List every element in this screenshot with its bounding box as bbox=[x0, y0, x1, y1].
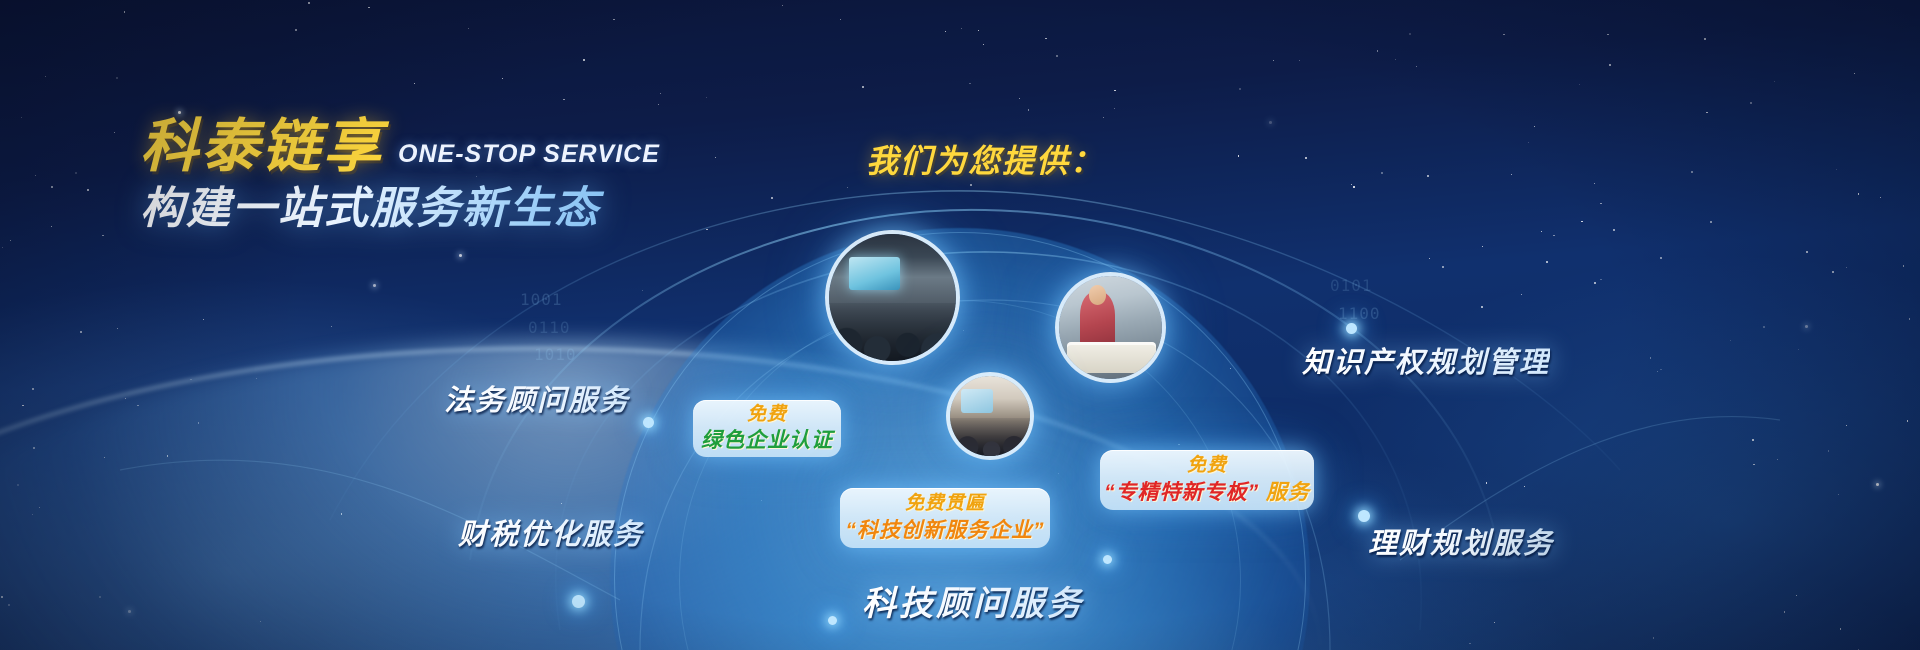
badge-main-label-yellow: 服务 bbox=[1259, 481, 1310, 504]
headline-subtitle: 构建一站式服务新生态 bbox=[140, 184, 760, 235]
badge-main-label: “科技创新服务企业” bbox=[846, 518, 1045, 543]
headline-block: 科泰链享 ONE-STOP SERVICE 构建一站式服务新生态 bbox=[140, 118, 760, 235]
photo-meeting-room-image bbox=[950, 376, 1030, 456]
orbit-lines-decoration bbox=[0, 0, 1920, 650]
green-enterprise-badge[interactable]: 免费 绿色企业认证 bbox=[693, 400, 841, 457]
orbit-node bbox=[1346, 323, 1357, 334]
specialized-board-badge[interactable]: 免费 “专精特新专板” 服务 bbox=[1100, 450, 1314, 510]
section-heading: 我们为您提供： bbox=[866, 136, 1104, 182]
binary-decoration: 1010 bbox=[534, 345, 577, 365]
wealth-planning-service[interactable]: 理财规划服务 bbox=[1368, 520, 1554, 562]
binary-decoration: 1100 bbox=[1338, 304, 1381, 324]
orbit-node bbox=[643, 417, 654, 428]
photo-meeting-room bbox=[946, 372, 1034, 460]
badge-main-label: 绿色企业认证 bbox=[701, 428, 833, 453]
orbit-node bbox=[828, 616, 837, 625]
finance-tax-service[interactable]: 财税优化服务 bbox=[458, 511, 644, 553]
binary-decoration: 1001 bbox=[520, 290, 563, 310]
badge-free-label: 免费 bbox=[1187, 455, 1227, 478]
photo-seminar-room-image bbox=[829, 234, 956, 361]
binary-decoration: 0110 bbox=[528, 318, 571, 338]
binary-decoration: 0101 bbox=[1330, 276, 1373, 296]
legal-advisory-service[interactable]: 法务顾问服务 bbox=[444, 377, 630, 419]
brand-title: 科泰链享 bbox=[140, 118, 384, 176]
ip-planning-management[interactable]: 知识产权规划管理 bbox=[1302, 339, 1550, 381]
orbit-node bbox=[572, 595, 585, 608]
tech-advisory-service[interactable]: 科技顾问服务 bbox=[862, 576, 1084, 625]
badge-main-label: “专精特新专板” 服务 bbox=[1104, 480, 1310, 505]
badge-free-label: 免费 bbox=[747, 404, 787, 427]
photo-office-consultant bbox=[1055, 272, 1166, 383]
english-tagline: ONE-STOP SERVICE bbox=[398, 140, 660, 176]
photo-office-consultant-image bbox=[1059, 276, 1162, 379]
orbit-node bbox=[1103, 555, 1112, 564]
photo-seminar-room bbox=[825, 230, 960, 365]
tech-innovation-badge[interactable]: 免费贯匾 “科技创新服务企业” bbox=[840, 488, 1050, 548]
promo-banner: 1001 0110 1010 0101 1100 科泰链享 ONE-STOP S… bbox=[0, 0, 1920, 650]
badge-main-label-red: “专精特新专板” bbox=[1104, 481, 1259, 504]
badge-free-label: 免费贯匾 bbox=[905, 493, 985, 516]
